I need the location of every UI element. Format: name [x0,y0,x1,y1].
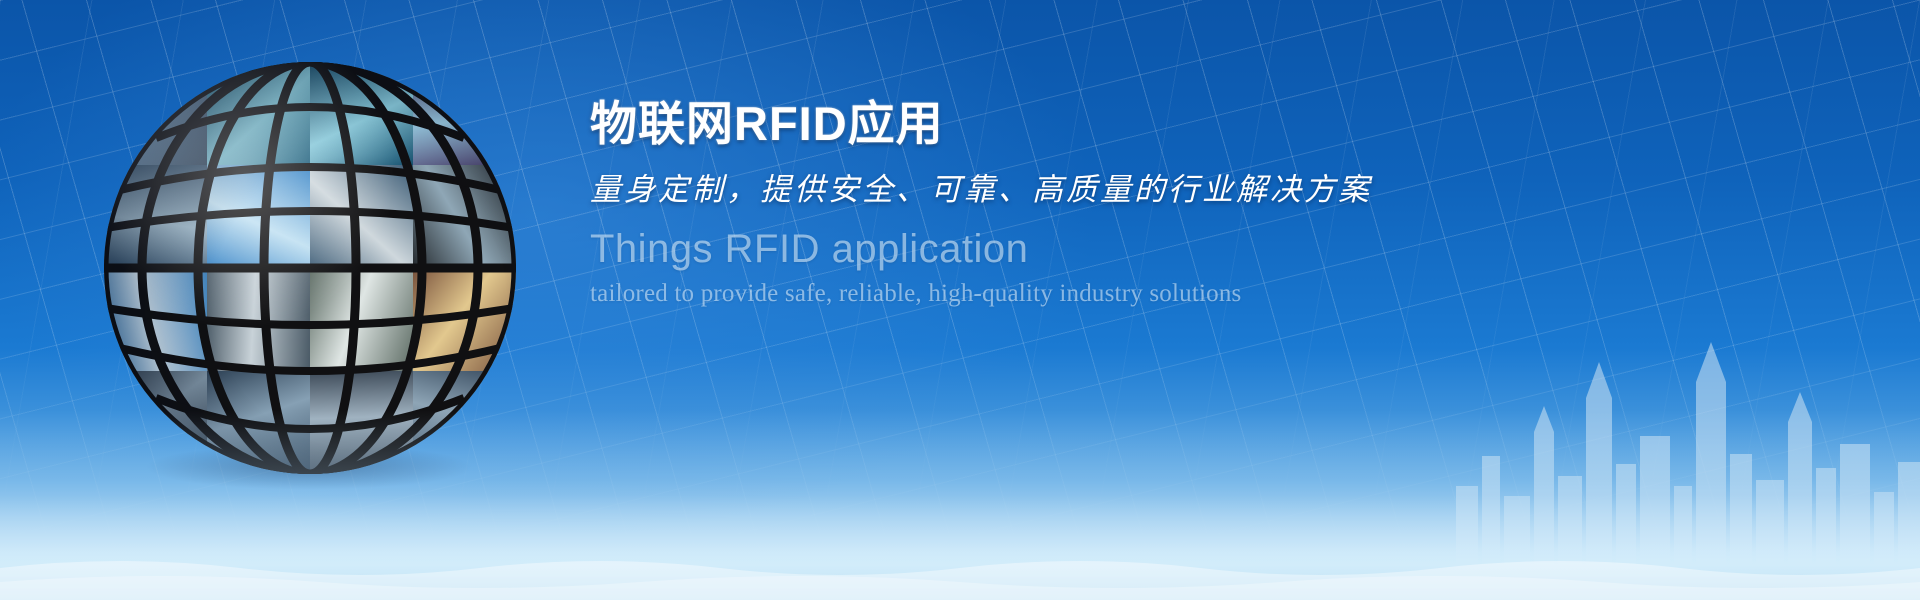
page-subtitle: 量身定制，提供安全、可靠、高质量的行业解决方案 [590,164,1690,209]
banner-copy: 物联网RFID应用 量身定制，提供安全、可靠、高质量的行业解决方案 Things… [590,98,1690,308]
english-subtitle: tailored to provide safe, reliable, high… [590,280,1690,308]
english-title: Things RFID application [590,227,1690,272]
hero-banner: 物联网RFID应用 量身定制，提供安全、可靠、高质量的行业解决方案 Things… [0,0,1920,600]
page-title: 物联网RFID应用 [590,98,1690,150]
water-reflection-icon [0,542,1920,600]
